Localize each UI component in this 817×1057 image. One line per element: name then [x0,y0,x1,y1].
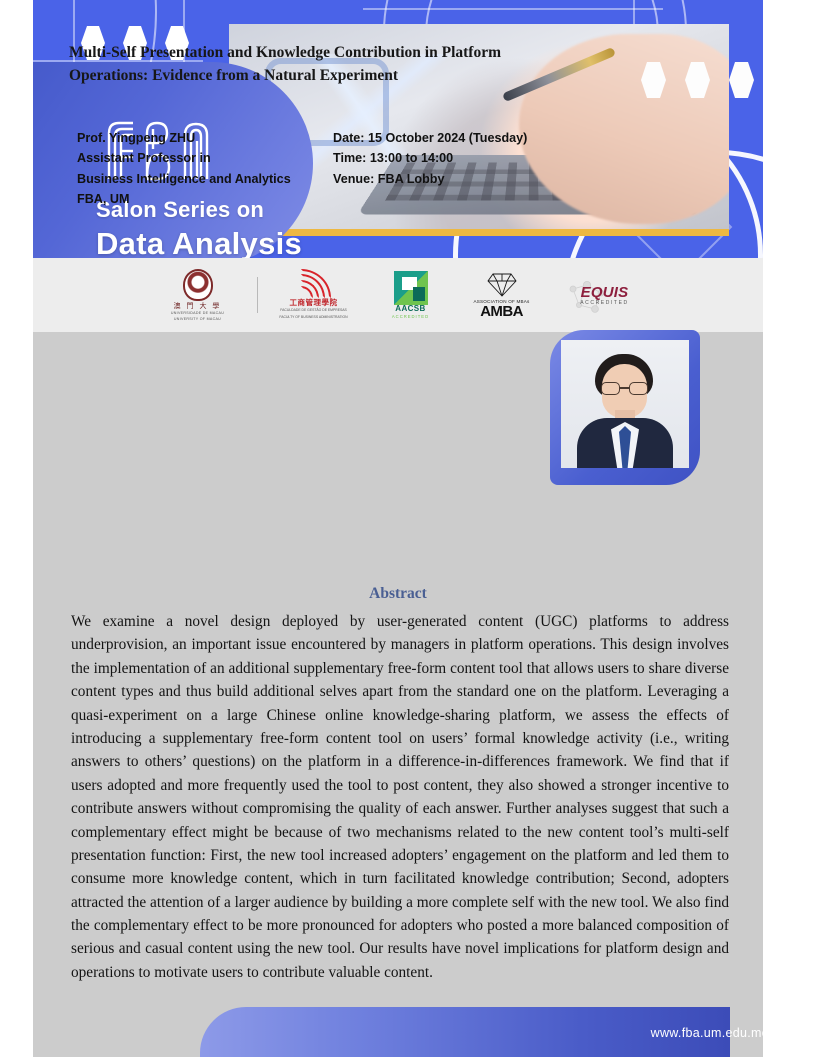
equis-subtitle: ACCREDITED [565,300,645,306]
fba-logo-line2: FACULTY OF BUSINESS ADMINISTRATION [271,315,357,320]
aacsb-accredited-logo: AACSB ACCREDITED [370,271,452,319]
amba-accredited-logo: ASSOCIATION OF MBAs AMBA [452,271,552,319]
amba-diamond-icon [487,272,517,298]
aacsb-title: AACSB [383,305,439,314]
accreditation-logo-strip: 澳 門 大 學 UNIVERSIDADE DE MACAU UNIVERSITY… [33,258,763,332]
abstract-text: We examine a novel design deployed by us… [71,610,729,984]
speaker-role: Assistant Professor in [77,148,291,168]
faculty-of-business-administration-logo: 工商管理學院 FACULDADE DE GESTÃO DE EMPRESAS F… [258,271,370,319]
aacsb-mark-icon [394,271,428,305]
event-time: Time: 13:00 to 14:00 [333,148,527,168]
speaker-details: Prof. Yingpeng ZHU Assistant Professor i… [77,128,291,210]
series-title: Data Analysis [96,226,302,262]
talk-title: Multi-Self Presentation and Knowledge Co… [69,41,539,88]
equis-accredited-logo: EQUIS ACCREDITED [552,271,658,319]
gold-accent-bar [229,229,729,236]
equis-title: EQUIS [565,285,645,300]
fba-logo-chinese: 工商管理學院 [271,299,357,307]
university-of-macau-logo: 澳 門 大 學 UNIVERSIDADE DE MACAU UNIVERSITY… [139,271,257,319]
speaker-name: Prof. Yingpeng ZHU [77,128,291,148]
event-poster: Salon Series on Data Analysis 澳 門 大 學 UN… [0,0,817,1057]
event-venue: Venue: FBA Lobby [333,169,527,189]
fba-signal-icon [299,270,329,296]
um-logo-line1: UNIVERSIDADE DE MACAU [152,311,244,316]
footer-url: www.fba.um.edu.mo [651,1026,769,1040]
fba-logo-line1: FACULDADE DE GESTÃO DE EMPRESAS [271,308,357,313]
um-logo-line2: UNIVERSITY OF MACAU [152,317,244,322]
speaker-portrait [561,340,689,468]
amba-title: AMBA [465,304,539,319]
event-date: Date: 15 October 2024 (Tuesday) [333,128,527,148]
speaker-department: Business Intelligence and Analytics [77,169,291,189]
um-crest-icon [183,269,213,301]
aacsb-subtitle: ACCREDITED [383,314,439,319]
portrait-glasses-icon [601,382,648,395]
event-details: Date: 15 October 2024 (Tuesday) Time: 13… [333,128,527,189]
hexagon-cluster-icon [633,60,763,102]
poster-sheet: Salon Series on Data Analysis 澳 門 大 學 UN… [33,0,763,1057]
speaker-portrait-frame [550,330,700,485]
speaker-affiliation: FBA, UM [77,189,291,209]
um-logo-chinese: 澳 門 大 學 [152,303,244,310]
abstract-heading: Abstract [33,585,763,603]
